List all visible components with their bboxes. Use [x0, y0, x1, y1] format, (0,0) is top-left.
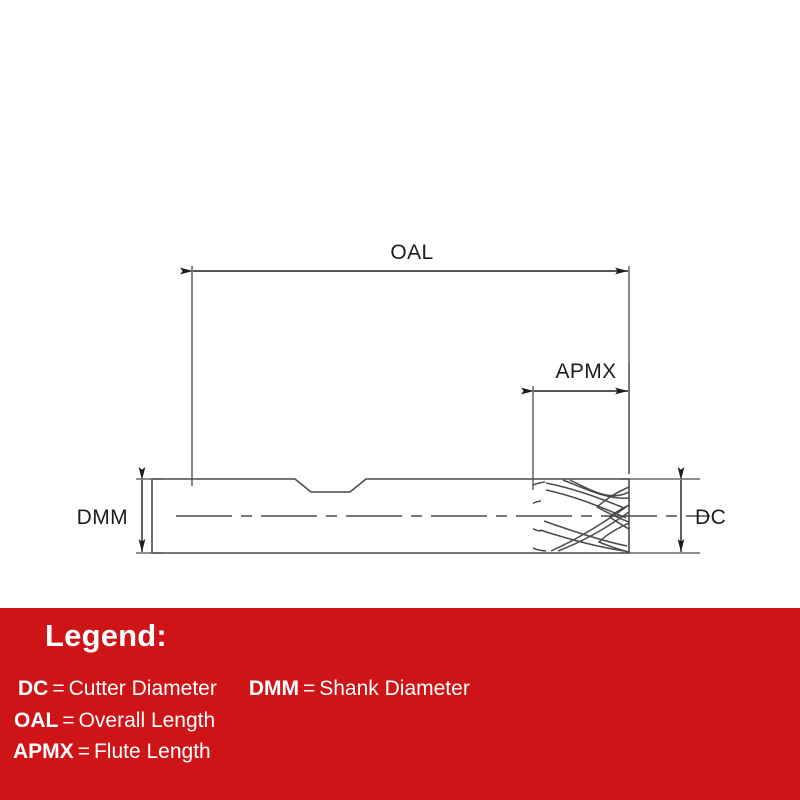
dimension-dmm: DMM	[77, 479, 162, 553]
dimension-apmx: APMX	[533, 360, 629, 490]
legend-desc-apmx: Flute Length	[94, 740, 211, 763]
end-mill-drawing-svg: OAL APMX DMM DC	[0, 0, 800, 608]
legend-desc-dc: Cutter Diameter	[69, 677, 217, 700]
dc-label: DC	[695, 506, 726, 529]
legend-code-dc: DC	[18, 677, 48, 700]
legend-band: Legend: DC=Cutter DiameterDMM=Shank Diam…	[0, 608, 800, 800]
legend-desc-oal: Overall Length	[79, 709, 216, 732]
legend-equals: =	[303, 677, 315, 700]
legend-row: OAL=Overall Length	[14, 706, 215, 736]
legend-equals: =	[62, 709, 74, 732]
dmm-label: DMM	[77, 506, 128, 529]
legend-equals: =	[78, 740, 90, 763]
legend-code-oal: OAL	[14, 709, 58, 732]
legend-row: APMX=Flute Length	[13, 737, 211, 767]
legend-desc-dmm: Shank Diameter	[319, 677, 470, 700]
legend-code-apmx: APMX	[13, 740, 74, 763]
legend-entry-apmx: APMX=Flute Length	[13, 737, 211, 767]
legend-code-dmm: DMM	[249, 677, 299, 700]
legend-equals: =	[52, 677, 64, 700]
technical-drawing-area: OAL APMX DMM DC	[0, 0, 800, 608]
legend-entry-dmm: DMM=Shank Diameter	[249, 674, 470, 704]
legend-entry-dc: DC=Cutter Diameter	[18, 674, 217, 704]
legend-row: DC=Cutter DiameterDMM=Shank Diameter	[18, 674, 470, 704]
apmx-label: APMX	[555, 360, 616, 383]
oal-label: OAL	[390, 241, 433, 264]
page-root: OAL APMX DMM DC	[0, 0, 800, 800]
legend-entry-oal: OAL=Overall Length	[14, 706, 215, 736]
legend-title: Legend:	[45, 616, 167, 656]
